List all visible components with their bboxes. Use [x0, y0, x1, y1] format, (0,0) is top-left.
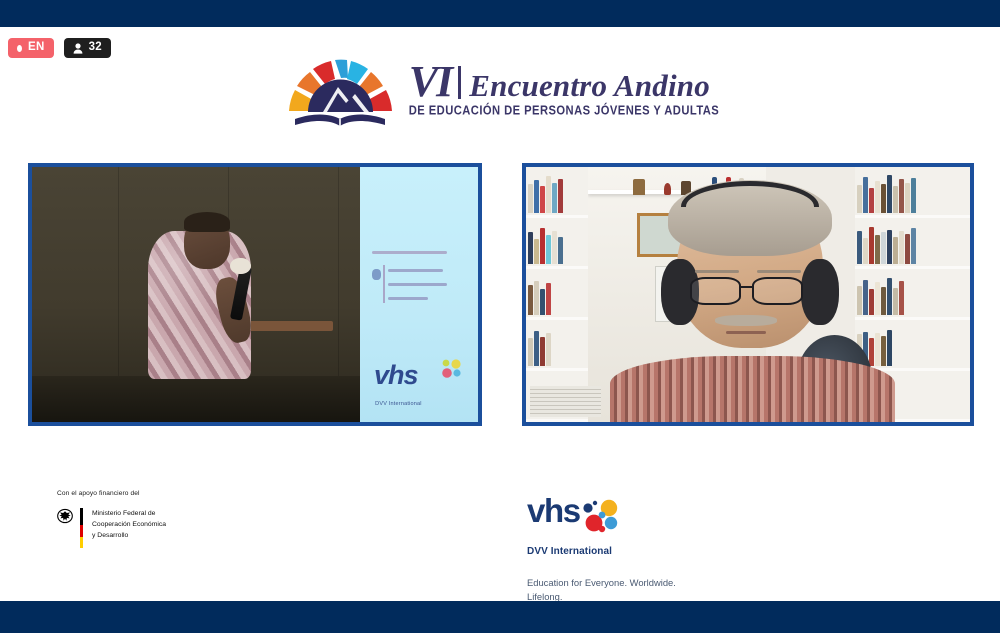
- headphone-cup-right: [801, 259, 839, 325]
- ministry-line-1: Ministerio Federal de: [92, 510, 155, 517]
- projected-vhs-word: vhs: [374, 362, 418, 389]
- eyebrow-left: [695, 270, 739, 273]
- tagline-line-1: Education for Everyone. Worldwide.: [527, 577, 676, 588]
- projected-vhs-sub: DVV International: [375, 401, 422, 407]
- presentation-stage: EN 32: [0, 0, 1000, 633]
- participant-shirt: [610, 356, 894, 422]
- title-divider: [458, 66, 461, 99]
- vhs-dots-icon: [581, 498, 623, 541]
- ministry-name: Ministerio Federal de Cooperación Económ…: [92, 508, 166, 541]
- projected-vhs-dots-icon: [441, 359, 463, 379]
- speaker-hair: [184, 212, 231, 232]
- event-title-block: VI Encuentro Andino DE EDUCACIÓN DE PERS…: [409, 63, 719, 116]
- vhs-dvv-block: vhs DVV International Education for Ever…: [527, 497, 676, 603]
- glasses-bridge: [741, 286, 753, 288]
- vhs-wordmark: vhs: [527, 497, 580, 525]
- financial-support-block: Con el apoyo financiero del Ministerio F…: [57, 490, 166, 548]
- remote-participant-feed[interactable]: [522, 163, 974, 426]
- projected-eagle-icon: [372, 269, 381, 280]
- event-header: VI Encuentro Andino DE EDUCACIÓN DE PERS…: [0, 48, 1000, 132]
- vhs-tagline: Education for Everyone. Worldwide. Lifel…: [527, 576, 676, 603]
- eyebrow-right: [757, 270, 801, 273]
- left-bookshelf: [526, 167, 588, 422]
- participant-mouth: [726, 331, 766, 334]
- glasses-lens-right: [752, 277, 803, 305]
- tagline-line-2: Lifelong.: [527, 591, 562, 602]
- sunrise-mountain-book-icon: [281, 49, 399, 131]
- german-flag-bar: [80, 508, 83, 548]
- participant-mustache: [715, 315, 777, 326]
- bottom-bar: [0, 601, 1000, 633]
- event-subtitle: DE EDUCACIÓN DE PERSONAS JÓVENES Y ADULT…: [409, 105, 719, 118]
- ministry-line-2: Cooperación Económica: [92, 521, 166, 528]
- ministry-line-3: y Desarrollo: [92, 532, 128, 539]
- microphone-head: [230, 258, 251, 275]
- glasses-lens-left: [690, 277, 741, 305]
- presenter-stage-feed[interactable]: vhs DVV International: [28, 163, 482, 426]
- paper-stack: [530, 386, 601, 417]
- top-bar: [0, 0, 1000, 27]
- projection-screen: vhs DVV International: [360, 167, 478, 422]
- support-note: Con el apoyo financiero del: [57, 490, 166, 497]
- event-title: Encuentro Andino: [469, 70, 710, 101]
- dvv-international-label: DVV International: [527, 546, 676, 557]
- event-roman-numeral: VI: [409, 63, 451, 101]
- german-eagle-icon: [57, 508, 73, 529]
